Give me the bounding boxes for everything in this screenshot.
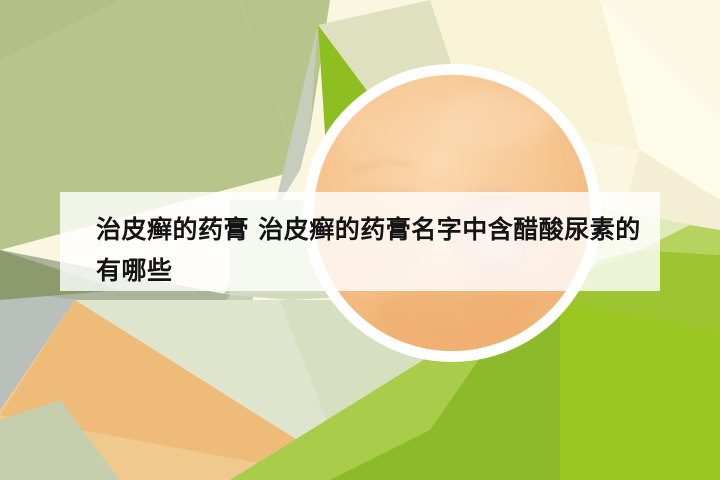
thumbnail-card: 治皮癣的药膏 治皮癣的药膏名字中含醋酸尿素的有哪些	[0, 0, 720, 480]
caption-title: 治皮癣的药膏 治皮癣的药膏名字中含醋酸尿素的有哪些	[96, 209, 652, 291]
